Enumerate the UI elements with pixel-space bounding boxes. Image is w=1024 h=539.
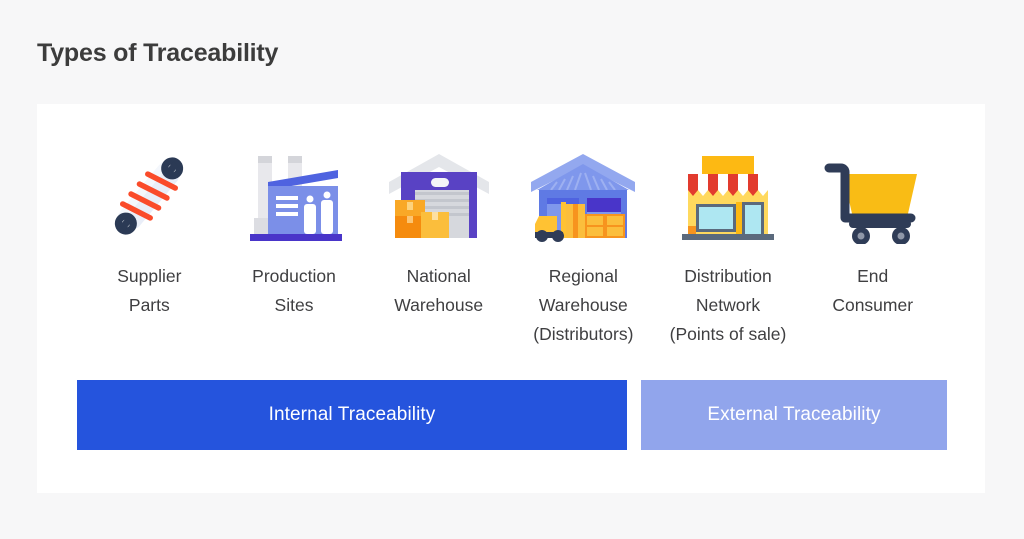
stage-supplier-parts: Supplier Parts	[77, 140, 222, 320]
traceability-card: Supplier Parts	[37, 104, 985, 493]
stage-icon-wrapper	[672, 140, 784, 244]
warehouse-shutter-icon	[387, 148, 491, 244]
stage-label: Supplier Parts	[117, 262, 181, 320]
stage-national-warehouse: National Warehouse	[366, 140, 511, 320]
stage-label: Production Sites	[252, 262, 336, 320]
stage-icon-wrapper	[242, 140, 346, 244]
shock-absorber-icon	[103, 148, 195, 244]
external-traceability-bar[interactable]: External Traceability	[641, 380, 947, 450]
stage-icon-wrapper	[387, 140, 491, 244]
stage-label: Regional Warehouse (Distributors)	[533, 262, 633, 349]
internal-traceability-label: Internal Traceability	[269, 404, 436, 426]
internal-traceability-bar[interactable]: Internal Traceability	[77, 380, 627, 450]
stage-distribution-network: Distribution Network (Points of sale)	[656, 140, 801, 349]
stage-icon-wrapper	[821, 140, 925, 244]
infographic-page: Types of Traceability	[0, 0, 1024, 539]
stage-icon-wrapper	[103, 140, 195, 244]
stage-regional-warehouse: Regional Warehouse (Distributors)	[511, 140, 656, 349]
shopping-cart-icon	[821, 148, 925, 244]
stage-production-sites: Production Sites	[222, 140, 367, 320]
stage-label: Distribution Network (Points of sale)	[670, 262, 787, 349]
external-traceability-label: External Traceability	[707, 404, 880, 426]
stage-label: End Consumer	[832, 262, 913, 320]
supply-chain-stage-list: Supplier Parts	[77, 140, 945, 349]
stage-label: National Warehouse	[394, 262, 483, 320]
traceability-bar-group: Internal Traceability External Traceabil…	[77, 380, 947, 450]
factory-icon	[242, 148, 346, 244]
warehouse-forklift-icon	[527, 148, 639, 244]
page-title: Types of Traceability	[37, 39, 278, 68]
stage-end-consumer: End Consumer	[800, 140, 945, 320]
storefront-icon	[672, 148, 784, 244]
stage-icon-wrapper	[527, 140, 639, 244]
